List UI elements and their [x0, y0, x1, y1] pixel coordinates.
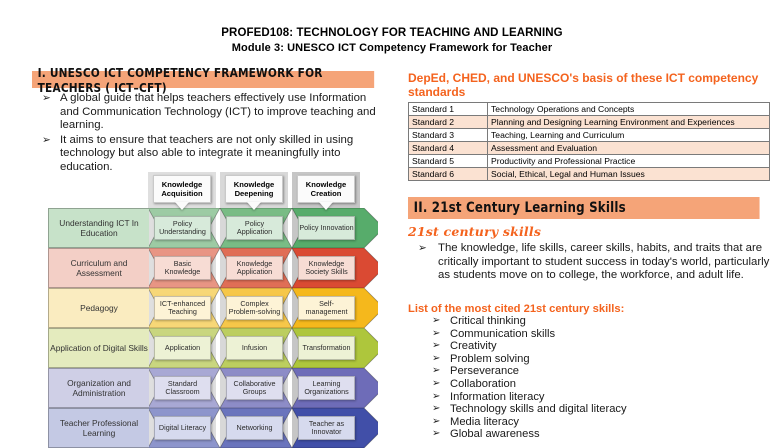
- standard-text-cell: Social, Ethical, Legal and Human Issues: [488, 168, 770, 181]
- matrix-column-header-label: Knowledge Deepening: [226, 180, 282, 198]
- standard-number-cell: Standard 5: [409, 155, 488, 168]
- chevron-down-icon: [319, 202, 333, 210]
- matrix-row: PedagogyICT-enhanced TeachingComplex Pro…: [48, 288, 378, 328]
- page-title: PROFED108: TECHNOLOGY FOR TEACHING AND L…: [0, 26, 784, 40]
- matrix-cell: Transformation: [298, 336, 355, 360]
- matrix-row: Curriculum and AssessmentBasic Knowledge…: [48, 248, 378, 288]
- matrix-cell: Infusion: [226, 336, 283, 360]
- standards-table: Standard 1Technology Operations and Conc…: [408, 102, 770, 181]
- standards-heading: DepEd, CHED, and UNESCO's basis of these…: [408, 71, 772, 99]
- standard-text-cell: Assessment and Evaluation: [488, 142, 770, 155]
- list-item: ➢Critical thinking: [408, 315, 772, 328]
- matrix-row: Understanding ICT In EducationPolicy Und…: [48, 208, 378, 248]
- bullet-arrow-icon: ➢: [432, 428, 440, 441]
- matrix-row: Teacher Professional LearningDigital Lit…: [48, 408, 378, 448]
- table-row: Standard 5Productivity and Professional …: [409, 155, 770, 168]
- matrix-row-label: Curriculum and Assessment: [48, 248, 149, 288]
- matrix-cell: Networking: [226, 416, 283, 440]
- list-item: ➢Media literacy: [408, 416, 772, 429]
- list-item-text: Media literacy: [450, 416, 519, 428]
- list-item-text: Global awareness: [450, 428, 540, 440]
- table-row: Standard 2Planning and Designing Learnin…: [409, 116, 770, 129]
- ict-cft-matrix-diagram: Understanding ICT In EducationPolicy Und…: [48, 172, 378, 447]
- matrix-cell: Basic Knowledge: [154, 256, 211, 280]
- matrix-row-label: Teacher Professional Learning: [48, 408, 149, 448]
- matrix-row: Organization and AdministrationStandard …: [48, 368, 378, 408]
- matrix-cell: Complex Problem-solving: [226, 296, 283, 320]
- standard-number-cell: Standard 1: [409, 103, 488, 116]
- matrix-column-header-label: Knowledge Creation: [298, 180, 354, 198]
- list-item-text: Communication skills: [450, 328, 555, 340]
- skills-list-heading: List of the most cited 21st century skil…: [408, 303, 624, 315]
- standard-number-cell: Standard 2: [409, 116, 488, 129]
- document-page: PROFED108: TECHNOLOGY FOR TEACHING AND L…: [0, 0, 784, 441]
- skills-list: ➢Critical thinking➢Communication skills➢…: [408, 315, 772, 441]
- chevron-down-icon: [247, 202, 261, 210]
- list-item-text: The knowledge, life skills, career skill…: [438, 242, 769, 281]
- standard-text-cell: Teaching, Learning and Curriculum: [488, 129, 770, 142]
- bullet-arrow-icon: ➢: [432, 416, 440, 429]
- matrix-cell: Digital Literacy: [154, 416, 211, 440]
- matrix-cell: Policy Understanding: [154, 216, 211, 240]
- list-item-text: Collaboration: [450, 378, 516, 390]
- matrix-cell: Learning Organizations: [298, 376, 355, 400]
- list-item: ➢ The knowledge, life skills, career ski…: [408, 242, 772, 283]
- matrix-cell: Application: [154, 336, 211, 360]
- right-column: DepEd, CHED, and UNESCO's basis of these…: [408, 71, 772, 181]
- list-item: ➢Perseverance: [408, 365, 772, 378]
- matrix-cell: Teacher as Innovator: [298, 416, 355, 440]
- section-two-banner: II. 21st Century Learning Skills: [408, 197, 760, 219]
- list-item: ➢ A global guide that helps teachers eff…: [32, 92, 384, 133]
- matrix-row-label: Understanding ICT In Education: [48, 208, 149, 248]
- matrix-cell: Collaborative Groups: [226, 376, 283, 400]
- century-skills-subheading: 21st century skills: [408, 224, 541, 239]
- list-item-text: Problem solving: [450, 353, 530, 365]
- matrix-row-label: Organization and Administration: [48, 368, 149, 408]
- bullet-arrow-icon: ➢: [432, 353, 440, 366]
- section-one-bullet-list: ➢ A global guide that helps teachers eff…: [32, 92, 384, 175]
- table-row: Standard 6Social, Ethical, Legal and Hum…: [409, 168, 770, 181]
- standard-text-cell: Planning and Designing Learning Environm…: [488, 116, 770, 129]
- list-item: ➢Communication skills: [408, 328, 772, 341]
- list-item: ➢ It aims to ensure that teachers are no…: [32, 134, 384, 175]
- matrix-row: Application of Digital SkillsApplication…: [48, 328, 378, 368]
- bullet-arrow-icon: ➢: [432, 340, 440, 353]
- matrix-cell: Policy Application: [226, 216, 283, 240]
- standard-number-cell: Standard 6: [409, 168, 488, 181]
- section-one-banner: I. UNESCO ICT COMPETENCY FRAMEWORK FOR T…: [32, 71, 374, 88]
- list-item: ➢Global awareness: [408, 428, 772, 441]
- table-row: Standard 1Technology Operations and Conc…: [409, 103, 770, 116]
- list-item-text: Perseverance: [450, 365, 519, 377]
- matrix-column-header-deepening: Knowledge Deepening: [225, 175, 283, 203]
- standard-number-cell: Standard 3: [409, 129, 488, 142]
- matrix-cell: Knowledge Society Skills: [298, 256, 355, 280]
- matrix-column-header-acquisition: Knowledge Acquisition: [153, 175, 211, 203]
- bullet-arrow-icon: ➢: [432, 378, 440, 391]
- bullet-arrow-icon: ➢: [418, 242, 427, 256]
- chevron-down-icon: [175, 202, 189, 210]
- matrix-cell: Knowledge Application: [226, 256, 283, 280]
- standard-number-cell: Standard 4: [409, 142, 488, 155]
- standard-text-cell: Productivity and Professional Practice: [488, 155, 770, 168]
- matrix-row-label: Application of Digital Skills: [48, 328, 149, 368]
- matrix-row-label: Pedagogy: [48, 288, 149, 328]
- table-row: Standard 4Assessment and Evaluation: [409, 142, 770, 155]
- table-row: Standard 3Teaching, Learning and Curricu…: [409, 129, 770, 142]
- list-item: ➢Collaboration: [408, 378, 772, 391]
- list-item-text: Technology skills and digital literacy: [450, 403, 627, 415]
- bullet-arrow-icon: ➢: [432, 391, 440, 404]
- bullet-arrow-icon: ➢: [432, 365, 440, 378]
- list-item-text: Critical thinking: [450, 315, 526, 327]
- matrix-cell: Policy Innovation: [298, 216, 355, 240]
- matrix-cell: ICT-enhanced Teaching: [154, 296, 211, 320]
- list-item: ➢Information literacy: [408, 391, 772, 404]
- left-column: I. UNESCO ICT COMPETENCY FRAMEWORK FOR T…: [32, 71, 384, 176]
- bullet-arrow-icon: ➢: [432, 315, 440, 328]
- bullet-arrow-icon: ➢: [432, 328, 440, 341]
- list-item-text: It aims to ensure that teachers are not …: [60, 134, 353, 173]
- list-item-text: A global guide that helps teachers effec…: [60, 92, 376, 131]
- matrix-column-header-label: Knowledge Acquisition: [154, 180, 210, 198]
- bullet-arrow-icon: ➢: [42, 134, 51, 148]
- century-skills-paragraph-list: ➢ The knowledge, life skills, career ski…: [408, 242, 772, 284]
- list-item: ➢Creativity: [408, 340, 772, 353]
- standard-text-cell: Technology Operations and Concepts: [488, 103, 770, 116]
- matrix-column-header-creation: Knowledge Creation: [297, 175, 355, 203]
- list-item: ➢Problem solving: [408, 353, 772, 366]
- bullet-arrow-icon: ➢: [432, 403, 440, 416]
- list-item-text: Information literacy: [450, 391, 545, 403]
- bullet-arrow-icon: ➢: [42, 92, 51, 106]
- list-item: ➢Technology skills and digital literacy: [408, 403, 772, 416]
- matrix-cell: Standard Classroom: [154, 376, 211, 400]
- page-subtitle: Module 3: UNESCO ICT Competency Framewor…: [0, 41, 784, 55]
- document-header: PROFED108: TECHNOLOGY FOR TEACHING AND L…: [0, 26, 784, 55]
- list-item-text: Creativity: [450, 340, 497, 352]
- matrix-cell: Self-management: [298, 296, 355, 320]
